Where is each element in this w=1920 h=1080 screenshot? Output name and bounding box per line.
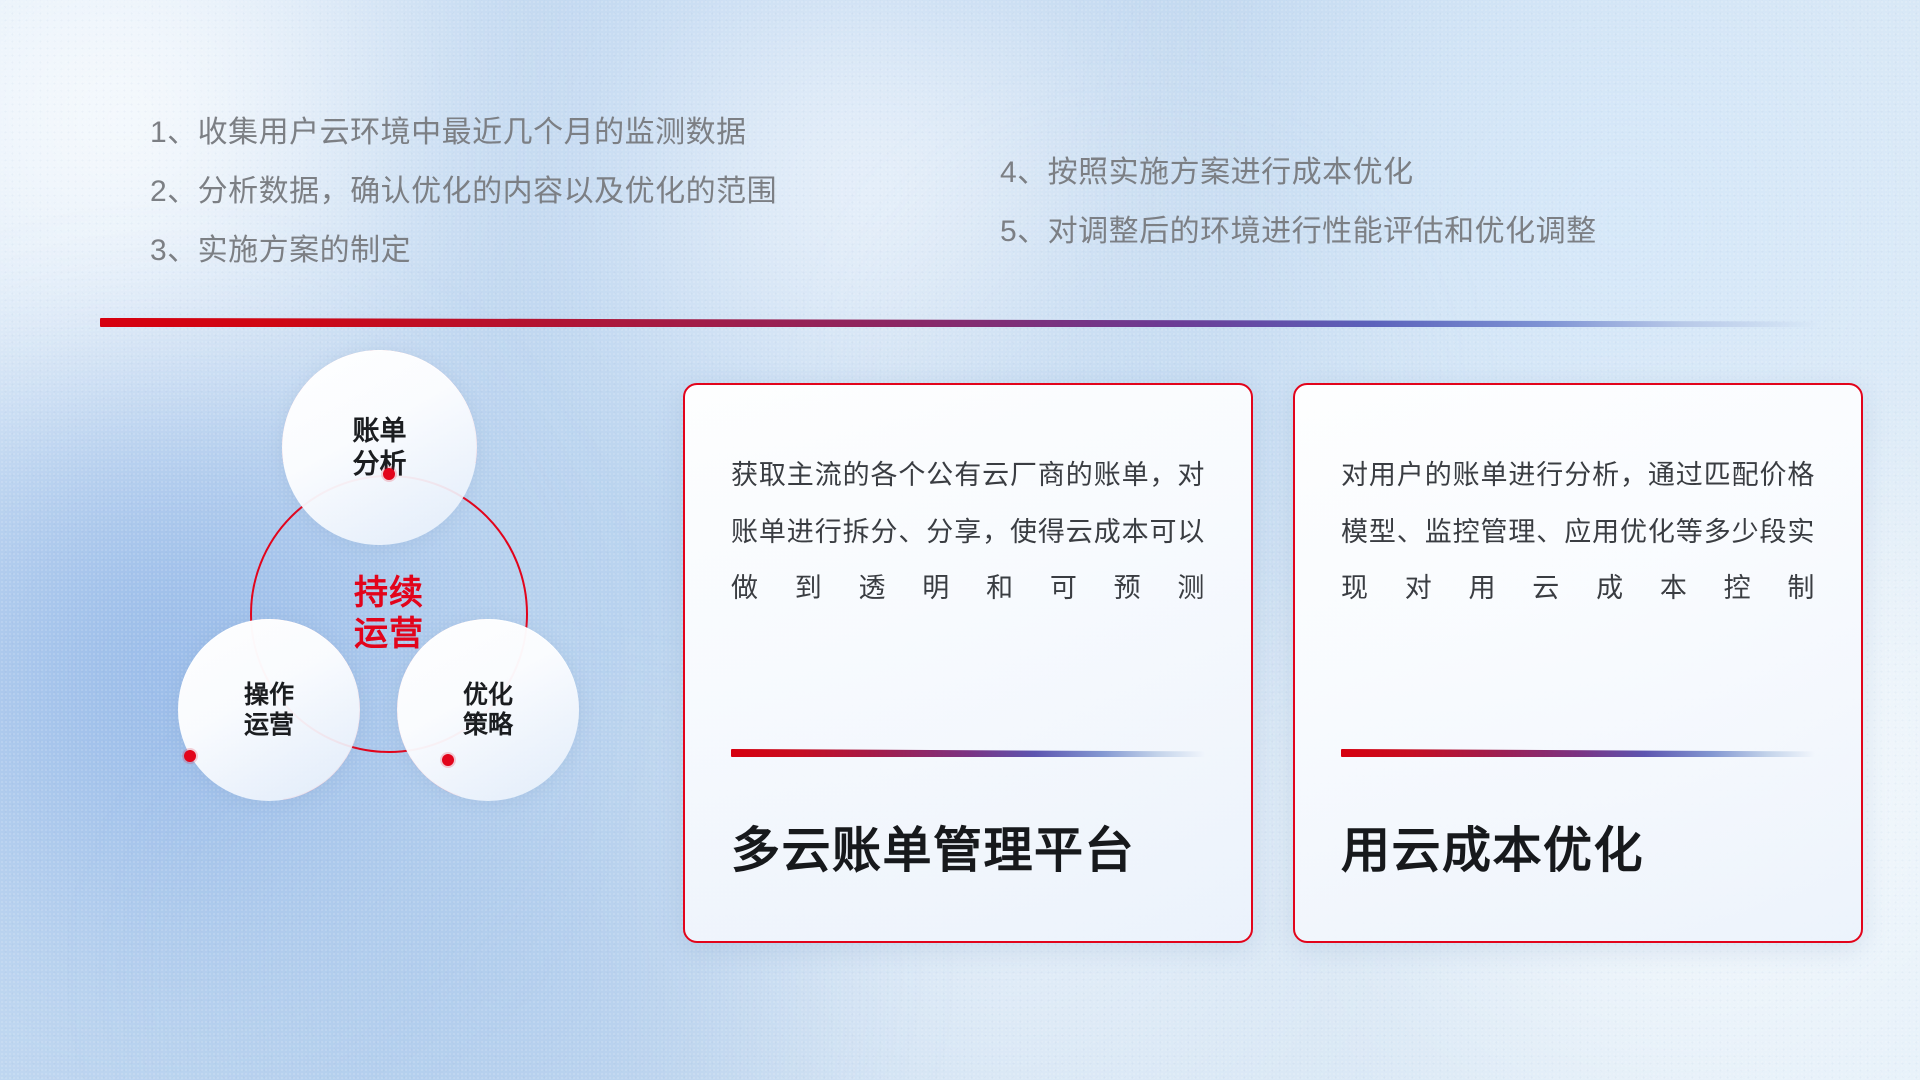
- section-divider: [100, 318, 1820, 327]
- feature-card-body: 获取主流的各个公有云厂商的账单，对账单进行拆分、分享，使得云成本可以做到透明和可…: [731, 447, 1205, 617]
- feature-card-title: 多云账单管理平台: [731, 825, 1205, 879]
- feature-card-cloud-cost-optimization[interactable]: 对用户的账单进行分析，通过匹配价格模型、监控管理、应用优化等多少段实现对用云成本…: [1293, 383, 1863, 943]
- diagram-center-label: 持续 运营: [250, 475, 528, 753]
- steps-right-column: 4、按照实施方案进行成本优化 5、对调整后的环境进行性能评估和优化调整: [1000, 158, 1597, 247]
- continuous-operation-diagram: 账单 分析 操作 运营 优化 策略 持续 运营: [100, 355, 640, 935]
- feature-card-body: 对用户的账单进行分析，通过匹配价格模型、监控管理、应用优化等多少段实现对用云成本…: [1341, 447, 1815, 617]
- step-item: 2、分析数据，确认优化的内容以及优化的范围: [150, 177, 777, 207]
- feature-card-rule: [1341, 749, 1815, 757]
- feature-card-title: 用云成本优化: [1341, 825, 1815, 879]
- step-item: 5、对调整后的环境进行性能评估和优化调整: [1000, 217, 1597, 247]
- diagram-connector-dot-left: [184, 750, 196, 762]
- feature-card-multicloud-billing[interactable]: 获取主流的各个公有云厂商的账单，对账单进行拆分、分享，使得云成本可以做到透明和可…: [683, 383, 1253, 943]
- diagram-connector-dot-top: [383, 468, 395, 480]
- diagram-center-label-line2: 运营: [354, 614, 424, 655]
- steps-left-column: 1、收集用户云环境中最近几个月的监测数据 2、分析数据，确认优化的内容以及优化的…: [150, 118, 777, 266]
- diagram-node-label-line1: 账单: [353, 415, 407, 448]
- step-item: 3、实施方案的制定: [150, 236, 777, 266]
- diagram-connector-dot-right: [442, 754, 454, 766]
- feature-card-rule: [731, 749, 1205, 757]
- step-item: 4、按照实施方案进行成本优化: [1000, 158, 1597, 188]
- diagram-center-label-line1: 持续: [354, 573, 424, 614]
- slide-content: 1、收集用户云环境中最近几个月的监测数据 2、分析数据，确认优化的内容以及优化的…: [0, 0, 1920, 1080]
- step-item: 1、收集用户云环境中最近几个月的监测数据: [150, 118, 777, 148]
